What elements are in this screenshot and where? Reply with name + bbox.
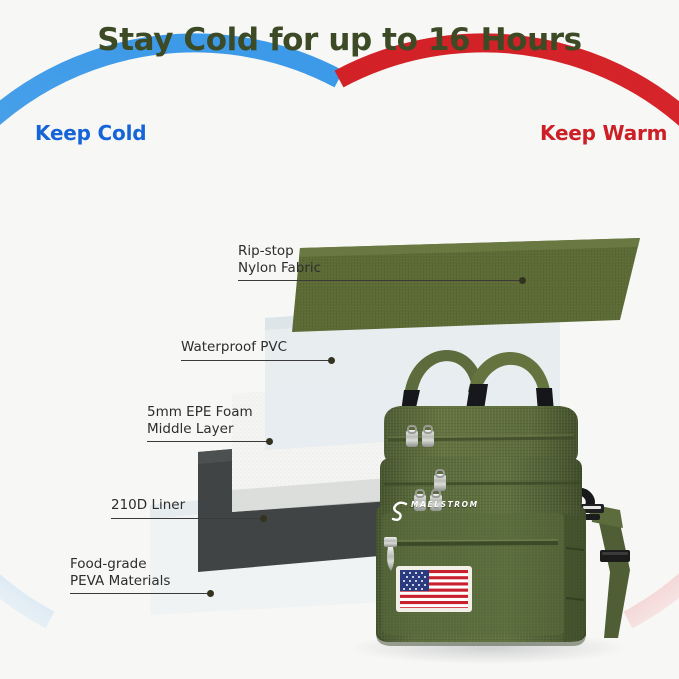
american-flag-patch bbox=[396, 566, 472, 612]
callout-line-1: 5mm EPE Foam bbox=[147, 404, 253, 421]
callout-line-1: Rip-stop bbox=[238, 243, 321, 260]
leader-line bbox=[181, 360, 331, 361]
callout-peva-materials: Food-grade PEVA Materials bbox=[70, 556, 170, 593]
bag-side-pocket bbox=[564, 514, 586, 642]
leader-dot bbox=[260, 515, 267, 522]
callout-line-1: Waterproof PVC bbox=[181, 339, 287, 356]
callout-line-2: Middle Layer bbox=[147, 421, 253, 438]
leader-line bbox=[147, 441, 269, 442]
callout-line-2: PEVA Materials bbox=[70, 573, 170, 590]
zipper-track-middle bbox=[384, 483, 580, 484]
pocket-zipper-track bbox=[390, 543, 558, 544]
leader-line bbox=[111, 518, 263, 519]
leader-line bbox=[70, 593, 210, 594]
callout-epe-foam: 5mm EPE Foam Middle Layer bbox=[147, 404, 253, 441]
leader-dot bbox=[207, 590, 214, 597]
leader-line bbox=[238, 280, 522, 281]
leader-dot bbox=[266, 438, 273, 445]
callout-210d-liner: 210D Liner bbox=[111, 497, 185, 518]
leader-dot bbox=[519, 277, 526, 284]
callout-line-1: Food-grade bbox=[70, 556, 170, 573]
infographic-canvas: Stay Cold for up to 16 Hours Keep Cold K… bbox=[0, 0, 679, 679]
callout-rip-stop-nylon: Rip-stop Nylon Fabric bbox=[238, 243, 321, 280]
product-image-cooler-bag: MAELSTROM bbox=[318, 318, 658, 668]
callout-waterproof-pvc: Waterproof PVC bbox=[181, 339, 287, 360]
strap-slider bbox=[600, 550, 630, 562]
callout-line-1: 210D Liner bbox=[111, 497, 185, 514]
carry-handles bbox=[401, 350, 554, 412]
callout-line-2: Nylon Fabric bbox=[238, 260, 321, 277]
